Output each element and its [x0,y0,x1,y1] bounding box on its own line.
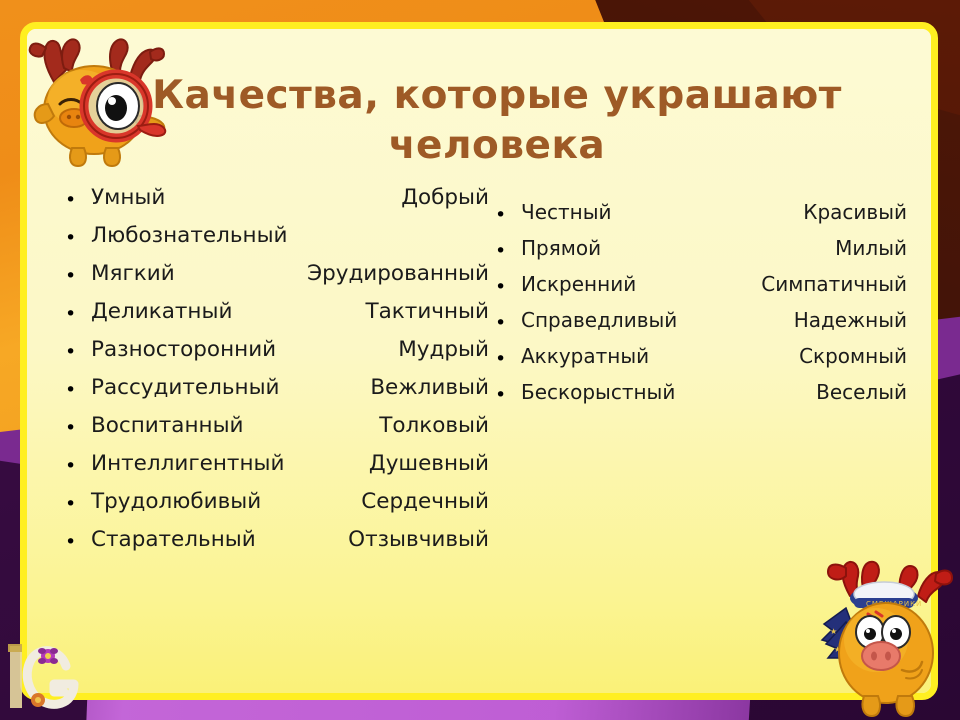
list-item-text: ДеликатныйТактичный [91,298,495,324]
bullet-icon [65,450,91,476]
quality-word: Веселый [816,380,907,404]
bullet-icon [495,271,521,297]
bullet-icon [495,307,521,333]
bullet-icon [65,336,91,362]
list-item-text: ИскреннийСимпатичный [521,271,915,296]
list-item-text: РазностороннийМудрый [91,336,495,362]
quality-word: Аккуратный [521,344,649,368]
list-item: ДеликатныйТактичный [65,298,495,336]
quality-word: Милый [835,236,907,260]
quality-word: Честный [521,200,612,224]
quality-word: Интеллигентный [91,451,284,476]
quality-word: Разносторонний [91,337,276,362]
quality-word: Воспитанный [91,413,244,438]
list-item: ВоспитанныйТолковый [65,412,495,450]
bullet-icon [495,379,521,405]
list-item: Любознательный [65,222,495,260]
list-item: ИскреннийСимпатичный [495,271,915,307]
list-item-text: АккуратныйСкромный [521,343,915,368]
quality-word: Тактичный [366,299,490,324]
quality-word: Скромный [799,344,907,368]
elk-with-magnifying-glass-icon [12,12,172,172]
list-item-text: ВоспитанныйТолковый [91,412,495,438]
quality-word: Прямой [521,236,601,260]
slide-stage: Качества, которые украшают человека Умны… [0,0,960,720]
quality-word: Надежный [794,308,907,332]
list-item-text: ЧестныйКрасивый [521,199,915,224]
quality-word: Красивый [803,200,907,224]
list-item-text: БескорыстныйВеселый [521,379,915,404]
list-item-text: ИнтеллигентныйДушевный [91,450,495,476]
bullet-icon [65,488,91,514]
bullet-icon [495,343,521,369]
list-item: СтарательныйОтзывчивый [65,526,495,564]
svg-text:★: ★ [830,627,837,636]
list-item: СправедливыйНадежный [495,307,915,343]
list-item: РазностороннийМудрый [65,336,495,374]
decorative-letter-g-logo [4,630,90,716]
list-item: ТрудолюбивыйСердечный [65,488,495,526]
bullet-icon [495,235,521,261]
quality-word: Сердечный [361,489,489,514]
bullet-icon [65,222,91,248]
qualities-column-left: УмныйДобрыйЛюбознательныйМягкийЭрудирова… [65,184,495,564]
quality-word: Душевный [369,451,489,476]
quality-word: Вежливый [370,375,489,400]
list-item: РассудительныйВежливый [65,374,495,412]
quality-word: Бескорыстный [521,380,675,404]
bullet-icon [495,199,521,225]
quality-word: Толковый [379,413,489,438]
list-item-text: ТрудолюбивыйСердечный [91,488,495,514]
quality-word: Старательный [91,527,256,552]
quality-word: Мудрый [398,337,489,362]
quality-word: Симпатичный [761,272,907,296]
list-item: МягкийЭрудированный [65,260,495,298]
bullet-icon [65,298,91,324]
list-item: УмныйДобрый [65,184,495,222]
list-item-text: РассудительныйВежливый [91,374,495,400]
quality-word: Умный [91,185,165,210]
list-item-text: УмныйДобрый [91,184,495,210]
bullet-icon [65,374,91,400]
page-title: Качества, которые украшают человека [147,71,847,171]
quality-word: Отзывчивый [348,527,489,552]
bullet-icon [65,412,91,438]
quality-word: Трудолюбивый [91,489,261,514]
list-item: ЧестныйКрасивый [495,199,915,235]
list-item-text: Любознательный [91,222,495,248]
list-item: АккуратныйСкромный [495,343,915,379]
list-item: БескорыстныйВеселый [495,379,915,415]
quality-word: Добрый [401,185,489,210]
bullet-icon [65,260,91,286]
quality-word: Деликатный [91,299,232,324]
elk-with-sailor-hat-icon: ★ ★ СМЕШАРИКИ [806,548,956,718]
quality-word: Мягкий [91,261,175,286]
bullet-icon [65,526,91,552]
quality-word: Любознательный [91,223,288,248]
list-item-text: МягкийЭрудированный [91,260,495,286]
list-item-text: ПрямойМилый [521,235,915,260]
list-item: ИнтеллигентныйДушевный [65,450,495,488]
qualities-column-right: ЧестныйКрасивыйПрямойМилыйИскреннийСимпа… [495,199,915,415]
list-item: ПрямойМилый [495,235,915,271]
bullet-icon [65,184,91,210]
list-item-text: СтарательныйОтзывчивый [91,526,495,552]
list-item-text: СправедливыйНадежный [521,307,915,332]
quality-word: Эрудированный [307,261,489,286]
quality-word: Рассудительный [91,375,280,400]
quality-word: Справедливый [521,308,677,332]
quality-word: Искренний [521,272,636,296]
